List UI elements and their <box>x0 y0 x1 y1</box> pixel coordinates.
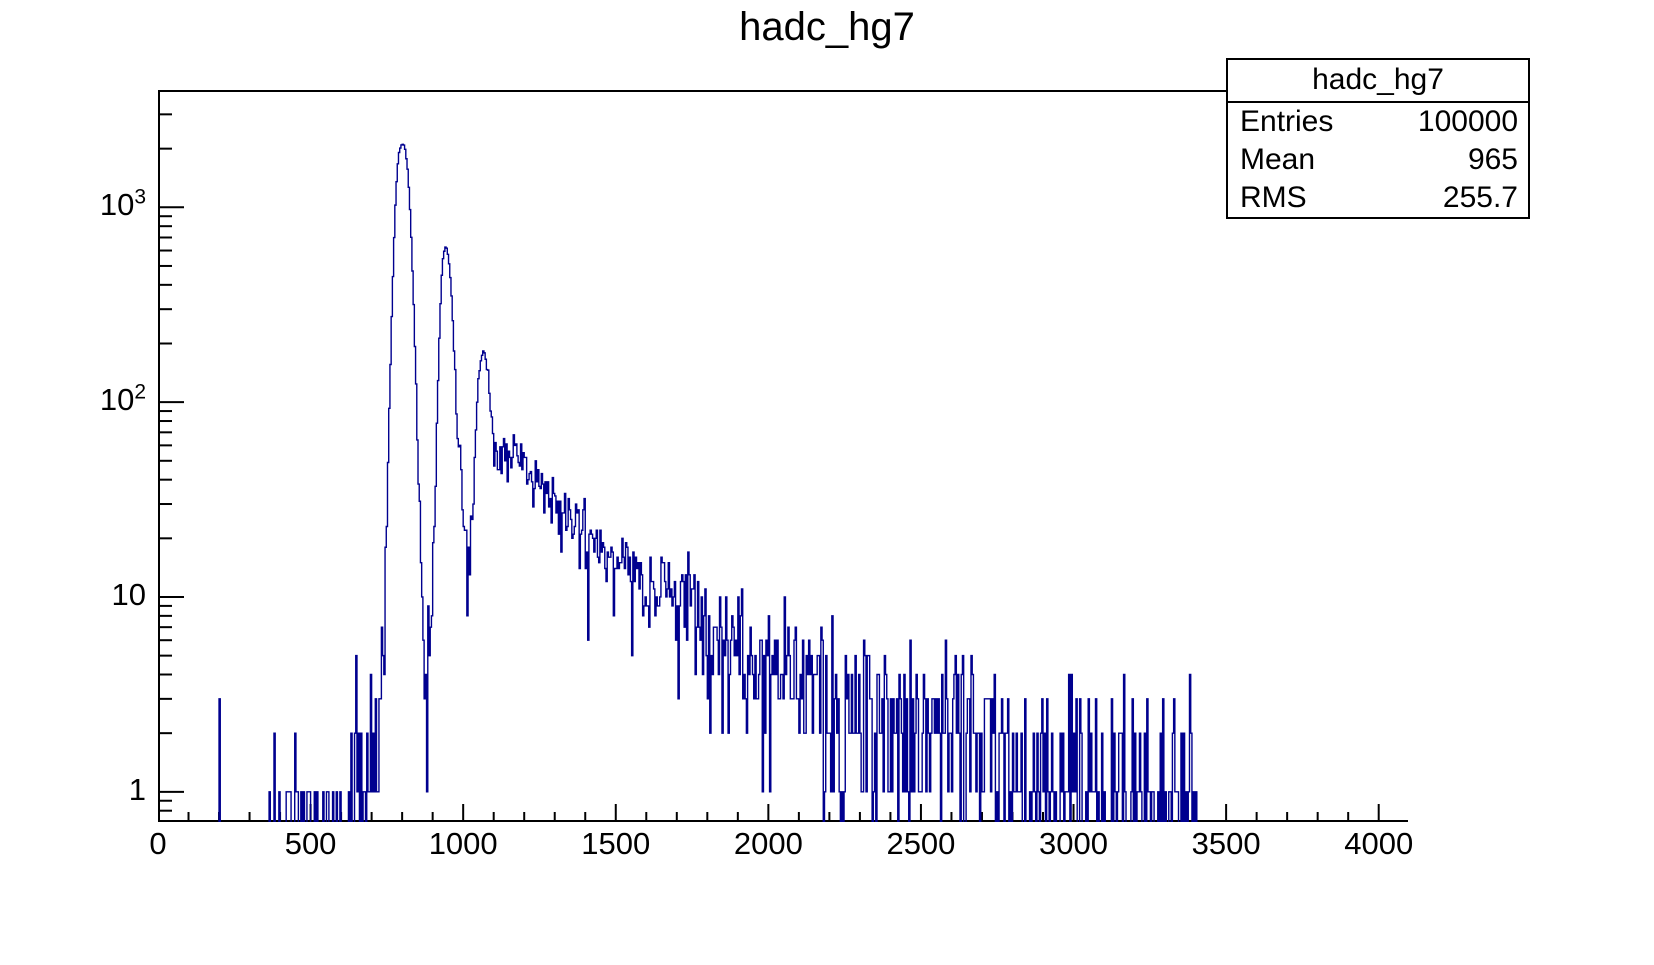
x-tick-label: 500 <box>251 828 371 859</box>
x-tick-label: 4000 <box>1319 828 1439 859</box>
x-tick-label: 2000 <box>708 828 828 859</box>
y-tick-label: 102 <box>30 384 146 415</box>
stats-key: RMS <box>1240 180 1307 216</box>
x-tick-label: 1000 <box>403 828 523 859</box>
stats-value: 965 <box>1468 142 1518 178</box>
stats-key: Entries <box>1240 104 1333 140</box>
page-title: hadc_hg7 <box>0 4 1654 50</box>
y-tick-label: 1 <box>30 774 146 805</box>
stats-value: 255.7 <box>1443 180 1518 216</box>
stats-row: Entries100000 <box>1228 103 1528 141</box>
x-tick-label: 1500 <box>556 828 676 859</box>
histogram-plot <box>158 90 1408 822</box>
histogram-curve <box>219 144 1197 822</box>
x-tick-label: 0 <box>98 828 218 859</box>
y-tick-label: 103 <box>30 189 146 220</box>
x-tick-label: 3500 <box>1166 828 1286 859</box>
stats-box[interactable]: hadc_hg7 Entries100000Mean965RMS255.7 <box>1226 58 1530 219</box>
stats-value: 100000 <box>1418 104 1518 140</box>
x-tick-label: 2500 <box>861 828 981 859</box>
x-tick-label: 3000 <box>1014 828 1134 859</box>
stats-box-rows: Entries100000Mean965RMS255.7 <box>1228 103 1528 217</box>
y-axis-ticks <box>158 90 184 811</box>
root-canvas: hadc_hg7 103102101 050010001500200025003… <box>0 0 1654 965</box>
stats-key: Mean <box>1240 142 1315 178</box>
stats-box-title: hadc_hg7 <box>1228 60 1528 103</box>
stats-row: Mean965 <box>1228 141 1528 179</box>
stats-row: RMS255.7 <box>1228 179 1528 217</box>
y-tick-label: 10 <box>30 579 146 610</box>
